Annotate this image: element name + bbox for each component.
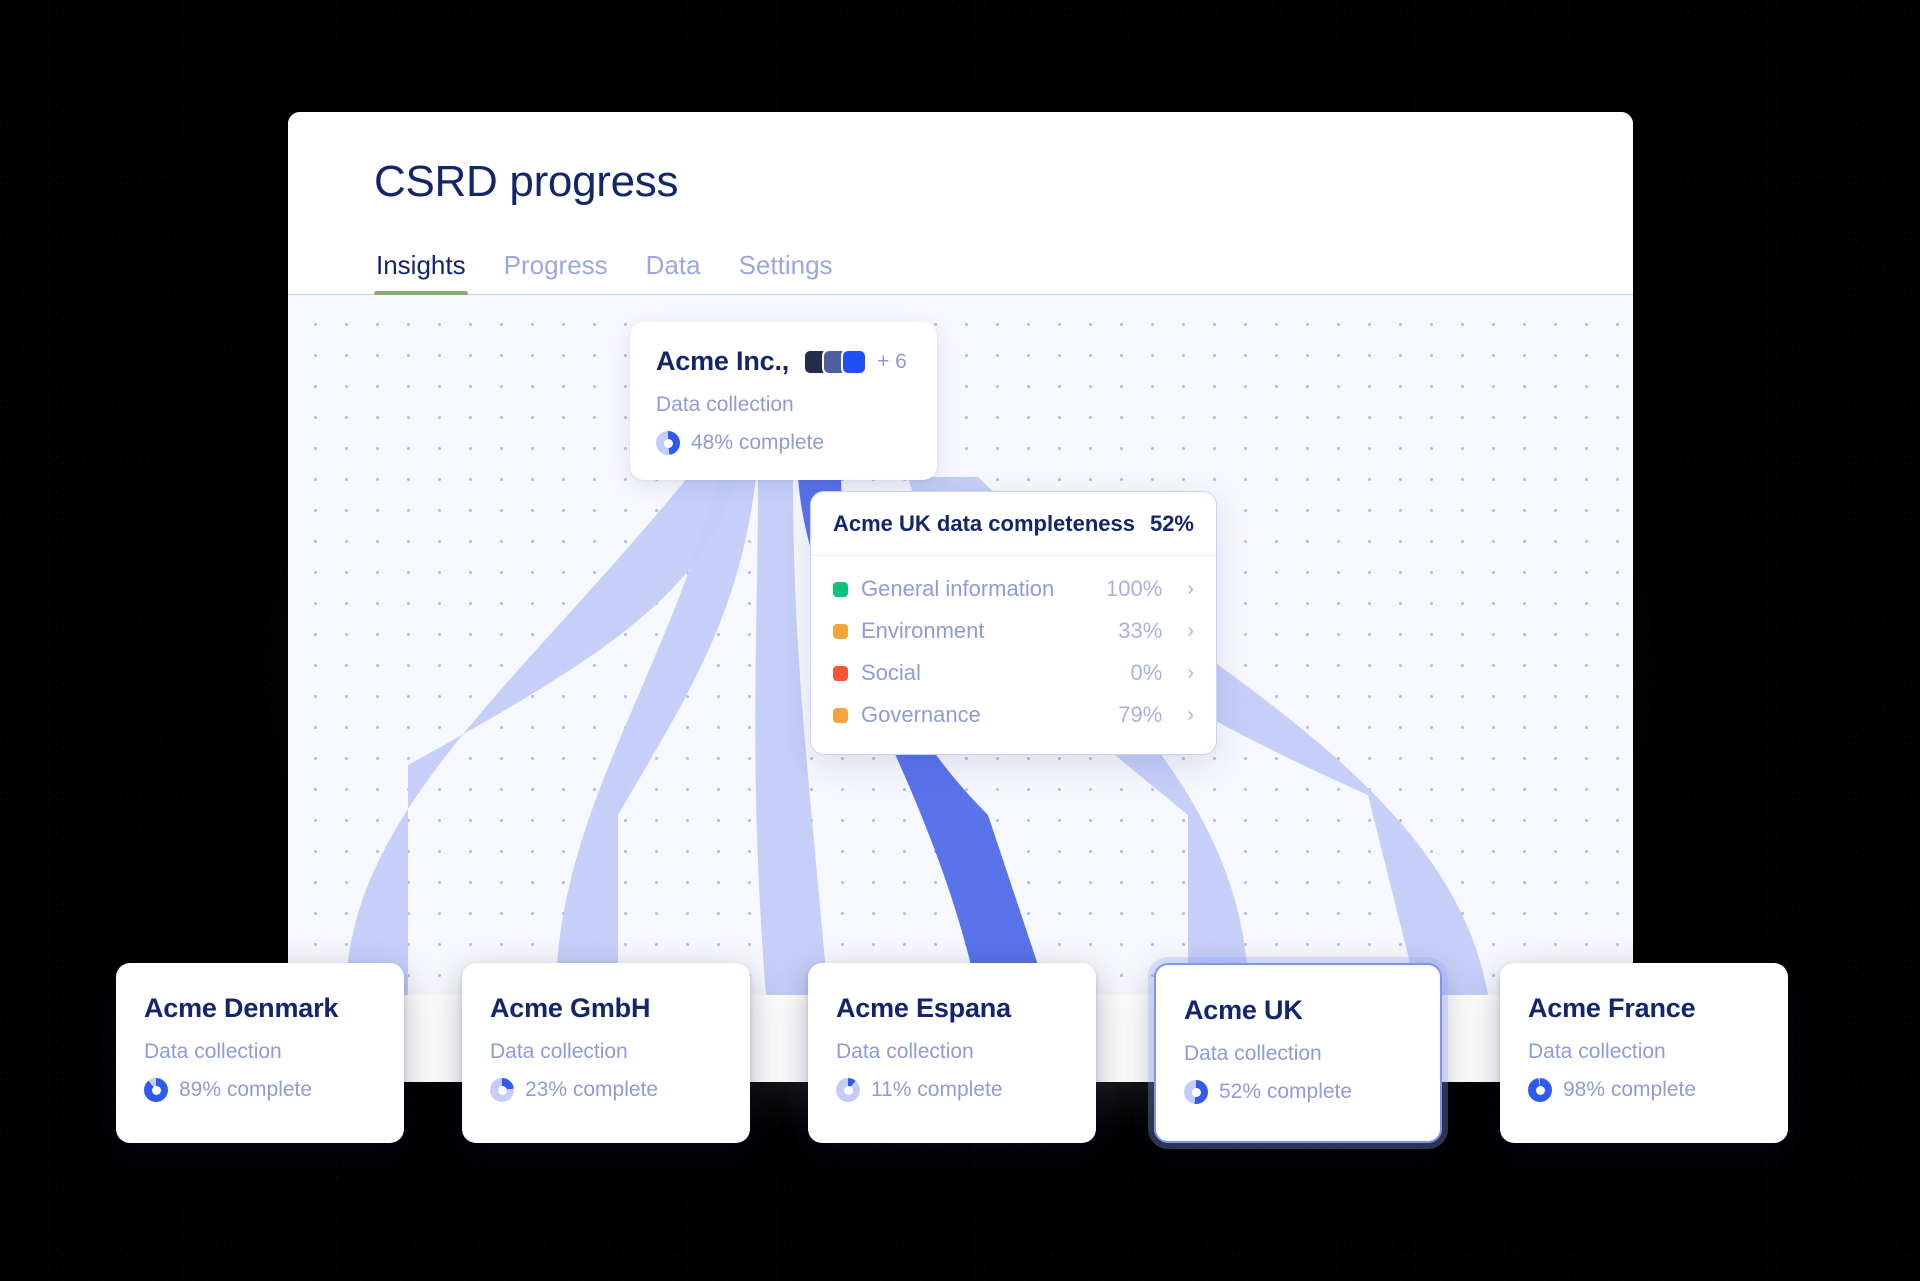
tab-insights[interactable]: Insights: [374, 250, 468, 294]
panel-row-list: General information 100% › Environment 3…: [811, 556, 1216, 754]
tab-settings[interactable]: Settings: [737, 250, 835, 294]
subsidiary-progress-text: 89% complete: [179, 1078, 312, 1102]
subsidiary-card-acme-denmark[interactable]: Acme Denmark Data collection 89% complet…: [116, 963, 404, 1143]
subsidiary-progress-text: 11% complete: [871, 1078, 1003, 1102]
status-swatch-icon: [833, 708, 848, 723]
progress-donut-icon: [656, 431, 680, 455]
row-value: 79%: [1118, 702, 1162, 728]
chevron-right-icon[interactable]: ›: [1187, 705, 1194, 725]
data-completeness-panel: Acme UK data completeness 52% General in…: [810, 491, 1217, 755]
subsidiary-card-acme-gmbh[interactable]: Acme GmbH Data collection 23% complete: [462, 963, 750, 1143]
root-org-card[interactable]: Acme Inc., + 6 Data collection 48% compl…: [630, 322, 937, 480]
progress-donut-icon: [836, 1078, 860, 1102]
window-header: CSRD progress: [288, 112, 1633, 204]
tab-progress[interactable]: Progress: [502, 250, 610, 294]
progress-donut-icon: [490, 1078, 514, 1102]
panel-total-value: 52%: [1150, 511, 1194, 537]
progress-donut-icon: [1528, 1078, 1552, 1102]
subsidiary-progress-text: 98% complete: [1563, 1078, 1696, 1102]
row-value: 100%: [1106, 576, 1162, 602]
tab-data[interactable]: Data: [644, 250, 703, 294]
panel-row-general-information[interactable]: General information 100% ›: [833, 568, 1194, 610]
subsidiary-card-acme-espana[interactable]: Acme Espana Data collection 11% complete: [808, 963, 1096, 1143]
subsidiary-card-acme-france[interactable]: Acme France Data collection 98% complete: [1500, 963, 1788, 1143]
panel-row-governance[interactable]: Governance 79% ›: [833, 694, 1194, 736]
row-label: Environment: [861, 618, 1105, 644]
progress-donut-icon: [144, 1078, 168, 1102]
subsidiary-progress: 98% complete: [1528, 1078, 1760, 1102]
tab-bar: Insights Progress Data Settings: [288, 250, 1633, 295]
row-label: Governance: [861, 702, 1105, 728]
subsidiary-title: Acme Denmark: [144, 993, 376, 1024]
chevron-right-icon[interactable]: ›: [1187, 579, 1194, 599]
status-swatch-icon: [833, 582, 848, 597]
subsidiary-stage-label: Data collection: [490, 1040, 722, 1064]
subsidiary-progress: 89% complete: [144, 1078, 376, 1102]
avatar: [841, 349, 867, 375]
screenshot-stage: CSRD progress Insights Progress Data Set…: [0, 0, 1920, 1281]
subsidiary-card-acme-uk[interactable]: Acme UK Data collection 52% complete: [1154, 963, 1442, 1143]
panel-row-environment[interactable]: Environment 33% ›: [833, 610, 1194, 652]
subsidiary-progress: 11% complete: [836, 1078, 1068, 1102]
progress-donut-icon: [1184, 1080, 1208, 1104]
row-value: 0%: [1131, 660, 1163, 686]
root-card-stage-label: Data collection: [656, 393, 911, 417]
subsidiary-progress-text: 52% complete: [1219, 1080, 1352, 1104]
row-label: General information: [861, 576, 1093, 602]
app-window: CSRD progress Insights Progress Data Set…: [288, 112, 1633, 1082]
panel-header: Acme UK data completeness 52%: [811, 492, 1216, 556]
chevron-right-icon[interactable]: ›: [1187, 663, 1194, 683]
root-card-progress-text: 48% complete: [691, 431, 824, 455]
subsidiary-title: Acme France: [1528, 993, 1760, 1024]
status-swatch-icon: [833, 666, 848, 681]
subsidiary-progress-text: 23% complete: [525, 1078, 658, 1102]
subsidiary-title: Acme UK: [1184, 995, 1412, 1026]
subsidiary-stage-label: Data collection: [1184, 1042, 1412, 1066]
subsidiary-stage-label: Data collection: [144, 1040, 376, 1064]
page-title: CSRD progress: [374, 160, 1633, 204]
subsidiary-progress: 52% complete: [1184, 1080, 1412, 1104]
subsidiary-stage-label: Data collection: [836, 1040, 1068, 1064]
panel-title: Acme UK data completeness: [833, 511, 1135, 537]
status-swatch-icon: [833, 624, 848, 639]
root-card-header: Acme Inc., + 6: [656, 346, 911, 377]
root-card-progress: 48% complete: [656, 431, 911, 455]
avatar-overflow-count: + 6: [877, 350, 907, 374]
subsidiary-title: Acme Espana: [836, 993, 1068, 1024]
panel-row-social[interactable]: Social 0% ›: [833, 652, 1194, 694]
subsidiary-stage-label: Data collection: [1528, 1040, 1760, 1064]
avatar-stack[interactable]: + 6: [803, 349, 907, 375]
row-value: 33%: [1118, 618, 1162, 644]
chevron-right-icon[interactable]: ›: [1187, 621, 1194, 641]
subsidiary-title: Acme GmbH: [490, 993, 722, 1024]
subsidiary-progress: 23% complete: [490, 1078, 722, 1102]
row-label: Social: [861, 660, 1118, 686]
subsidiary-card-row: Acme Denmark Data collection 89% complet…: [0, 963, 1920, 1143]
org-graph-canvas: Acme Inc., + 6 Data collection 48% compl…: [288, 295, 1633, 995]
root-card-title: Acme Inc.,: [656, 346, 789, 377]
